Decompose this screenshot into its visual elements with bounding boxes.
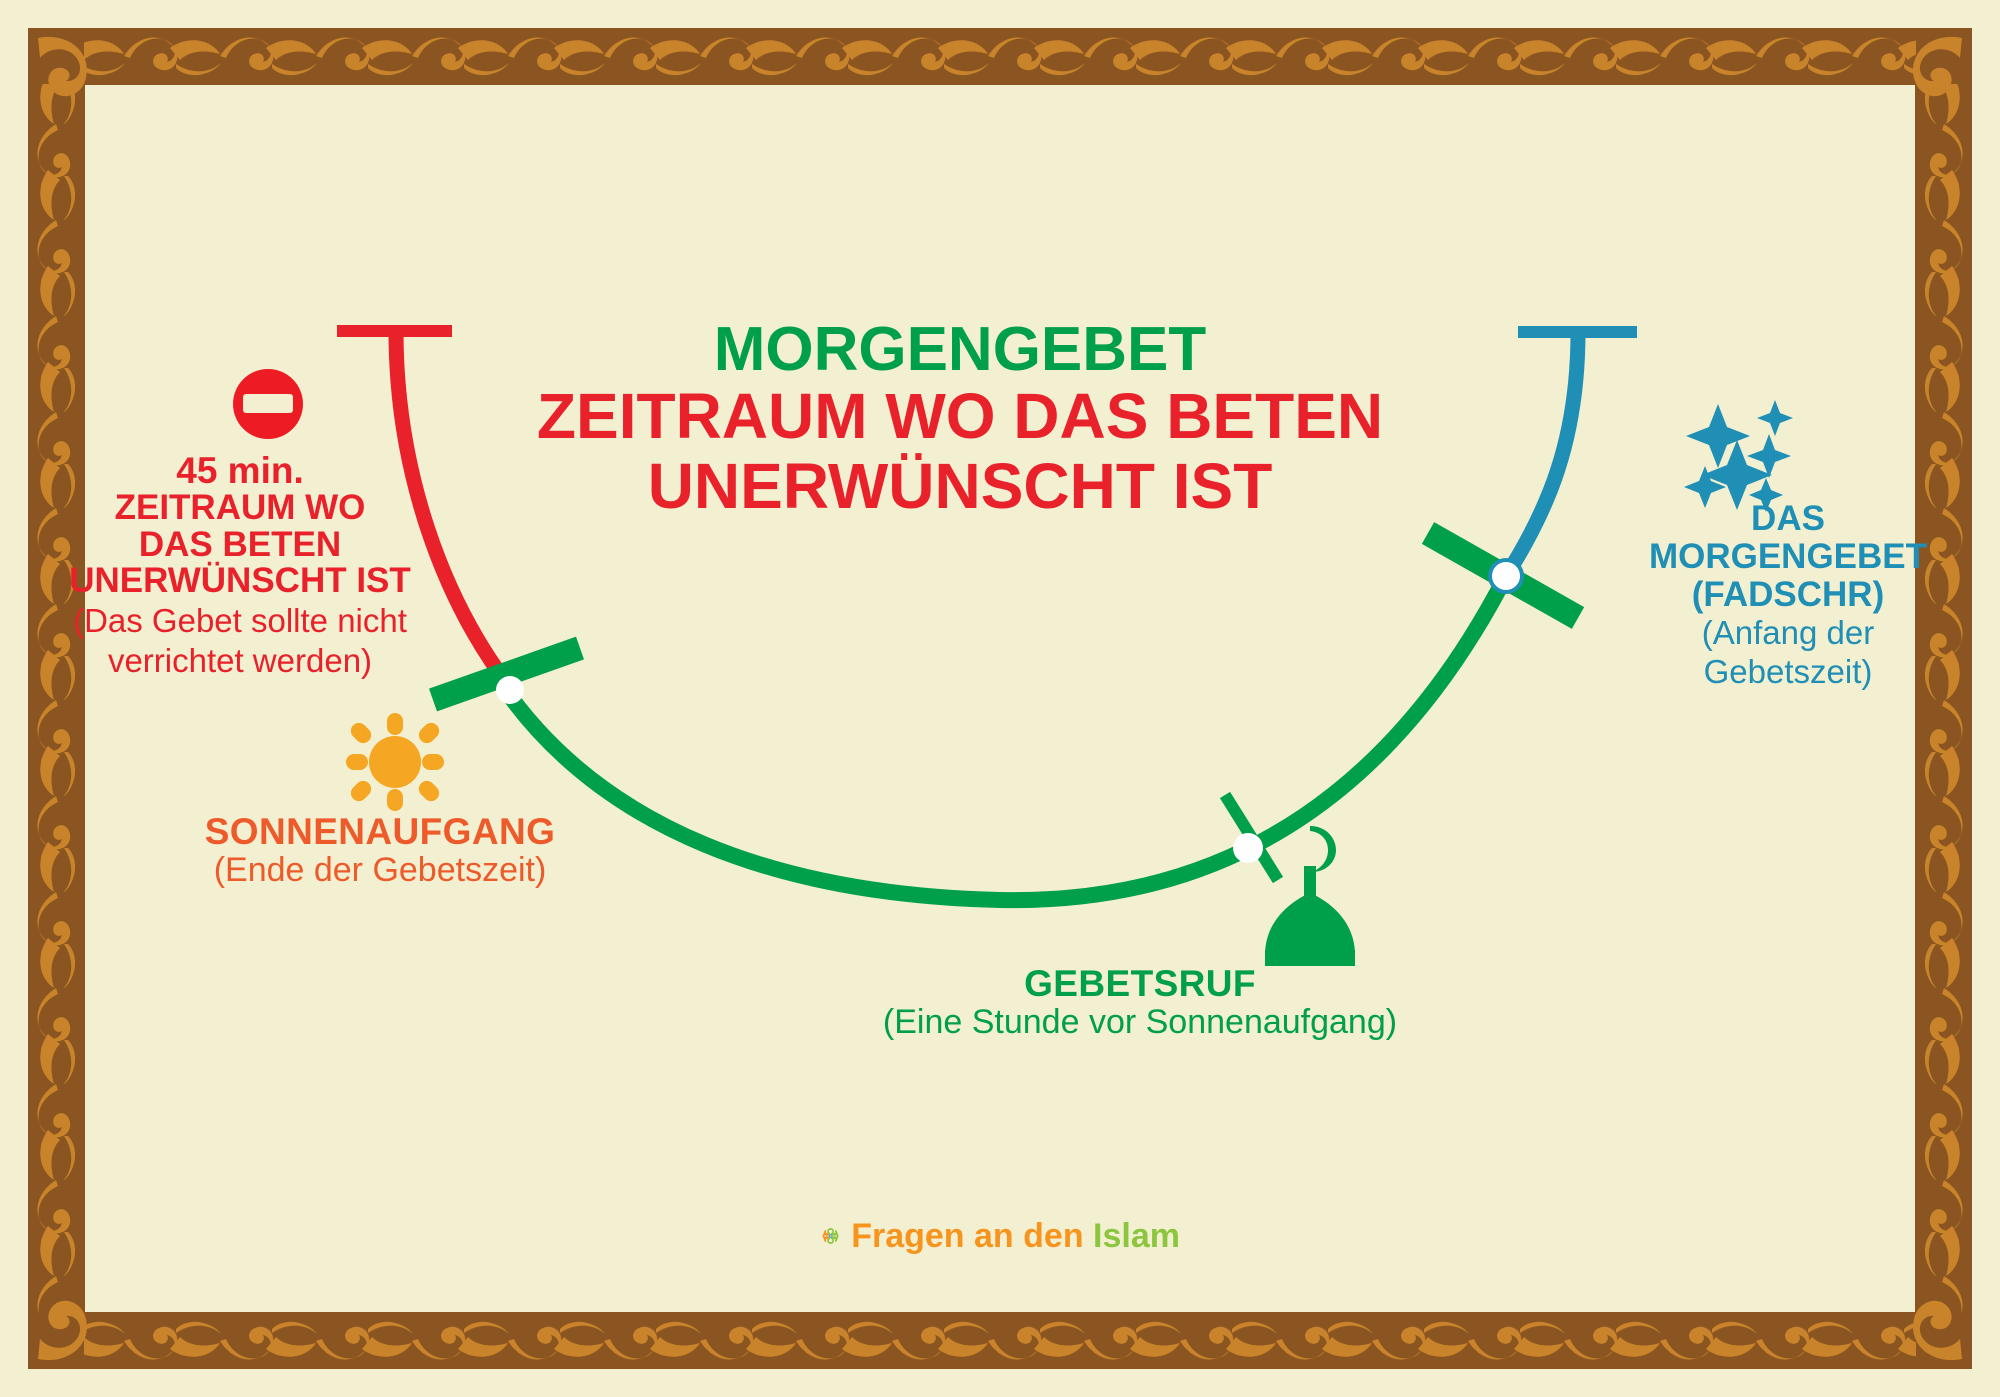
title-line-morgengebet: MORGENGEBET — [460, 318, 1460, 382]
fajr-title-line2: MORGENGEBET — [1600, 538, 1976, 576]
brand-logo[interactable]: Fragen an den Islam — [820, 1204, 1180, 1268]
sunrise-title: SONNENAUFGANG — [150, 813, 610, 851]
fajr-title-line3: (FADSCHR) — [1600, 576, 1976, 614]
title-line-unerwuenscht: UNERWÜNSCHT IST — [460, 452, 1460, 521]
page-title: MORGENGEBET ZEITRAUM WO DAS BETEN UNERWÜ… — [460, 318, 1460, 521]
sparkles-icon — [1684, 400, 1793, 512]
blue-arc-segment — [1506, 332, 1578, 576]
fajr-node-dot — [1490, 560, 1522, 592]
forbidden-title-line1: ZEITRAUM WO — [40, 490, 440, 526]
fajr-note-line1: (Anfang der — [1600, 615, 1976, 652]
sunrise-node-dot — [496, 676, 524, 704]
flower-ornament-icon — [820, 1209, 841, 1263]
gebetsruf-node-dot — [1233, 833, 1263, 863]
forbidden-note-line2: verrichtet werden) — [40, 643, 440, 680]
mosque-dome-icon — [1265, 826, 1355, 966]
sunrise-note: (Ende der Gebetszeit) — [150, 853, 610, 888]
forbidden-duration: 45 min. — [40, 452, 440, 490]
sunrise-label: SONNENAUFGANG (Ende der Gebetszeit) — [150, 813, 610, 889]
brand-name-part1: Fragen an den — [851, 1217, 1083, 1255]
call-to-prayer-label: GEBETSRUF (Eine Stunde vor Sonnenaufgang… — [790, 965, 1490, 1041]
forbidden-note-line1: (Das Gebet sollte nicht — [40, 603, 440, 640]
forbidden-title-line3: UNERWÜNSCHT IST — [40, 563, 440, 599]
fajr-note-line2: Gebetszeit) — [1600, 654, 1976, 691]
forbidden-period-label: 45 min. ZEITRAUM WO DAS BETEN UNERWÜNSCH… — [40, 452, 440, 680]
green-arc-segment — [500, 576, 1506, 900]
call-to-prayer-title: GEBETSRUF — [790, 965, 1490, 1003]
forbidden-title-line2: DAS BETEN — [40, 527, 440, 563]
title-line-zeitraum: ZEITRAUM WO DAS BETEN — [460, 382, 1460, 451]
no-entry-icon — [233, 369, 303, 439]
sun-icon — [346, 713, 444, 811]
fajr-title-line1: DAS — [1600, 500, 1976, 538]
brand-name-part2: Islam — [1093, 1217, 1180, 1255]
timeline-arc-diagram — [0, 0, 2000, 1397]
brand-logo-text: Fragen an den Islam — [851, 1217, 1180, 1256]
fajr-prayer-label: DAS MORGENGEBET (FADSCHR) (Anfang der Ge… — [1600, 500, 1976, 691]
infographic-canvas: 45 min. ZEITRAUM WO DAS BETEN UNERWÜNSCH… — [0, 0, 2000, 1397]
call-to-prayer-note: (Eine Stunde vor Sonnenaufgang) — [790, 1005, 1490, 1040]
